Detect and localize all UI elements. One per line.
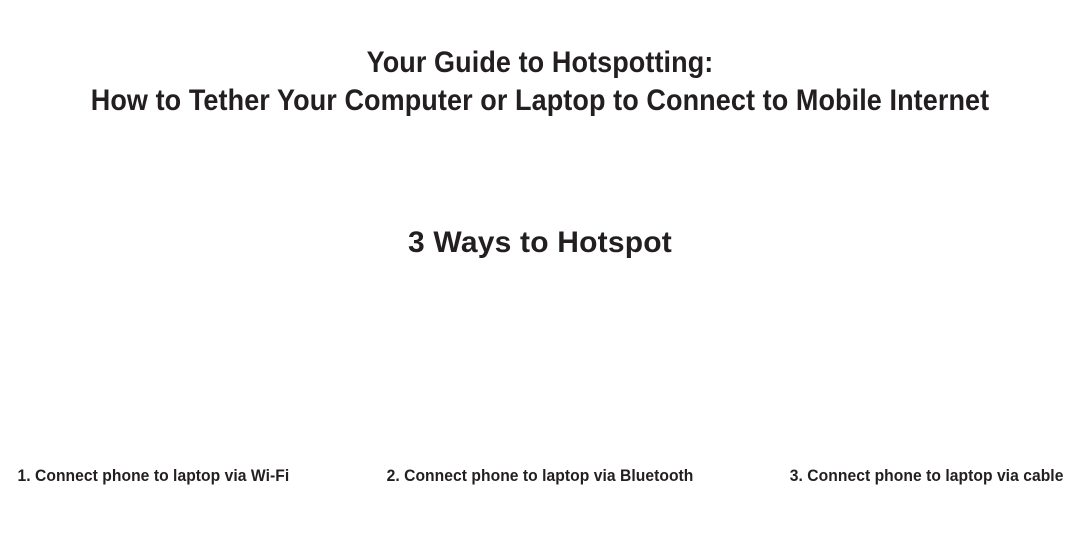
step-2-illustration — [360, 285, 720, 465]
step-1-illustration — [0, 285, 360, 465]
step-item-1: 1. Connect phone to laptop via Wi-Fi — [0, 285, 360, 517]
section-heading: 3 Ways to Hotspot — [0, 224, 1080, 262]
step-1-caption: 1. Connect phone to laptop via Wi-Fi — [0, 465, 331, 517]
page-title-line-1: Your Guide to Hotspotting: — [54, 44, 1026, 82]
step-2-caption: 2. Connect phone to laptop via Bluetooth — [374, 465, 705, 517]
infographic-page: Your Guide to Hotspotting: How to Tether… — [0, 0, 1080, 552]
step-item-3: 3. Connect phone to laptop via cable — [720, 285, 1080, 517]
step-item-2: 2. Connect phone to laptop via Bluetooth — [360, 285, 720, 517]
page-title-line-2: How to Tether Your Computer or Laptop to… — [54, 82, 1026, 120]
page-title: Your Guide to Hotspotting: How to Tether… — [0, 44, 1080, 120]
step-3-caption: 3. Connect phone to laptop via cable — [749, 465, 1080, 517]
steps-row: 1. Connect phone to laptop via Wi-Fi 2. … — [0, 285, 1080, 517]
step-3-illustration — [720, 285, 1080, 465]
